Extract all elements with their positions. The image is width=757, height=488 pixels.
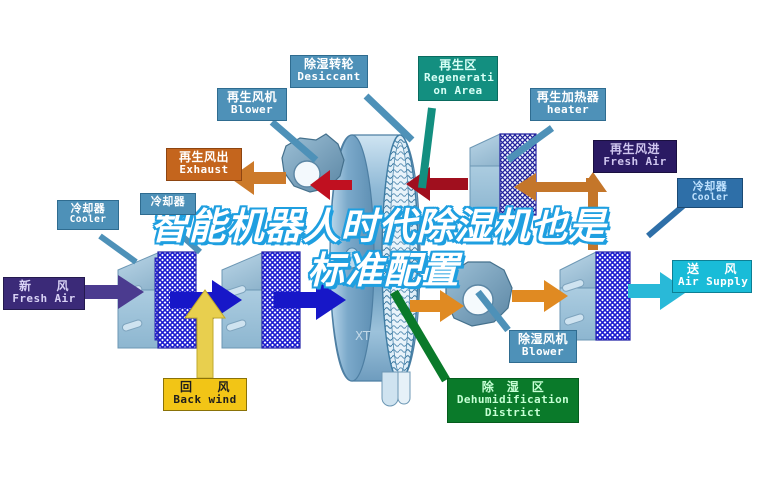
label-exhaust-en: Exhaust: [172, 164, 236, 176]
label-regeneration-blower-cn: 再生风机: [223, 91, 281, 104]
label-air-supply: 送 风 Air Supply: [672, 260, 752, 293]
label-fresh-air-in-en: Fresh Air: [9, 293, 79, 305]
label-exhaust: 再生风出 Exhaust: [166, 148, 242, 181]
label-dehumidification-district: 除 湿 区 Dehumidification District: [447, 378, 579, 423]
leader-regen-area: [422, 108, 432, 188]
label-regeneration-heater: 再生加热器 heater: [530, 88, 606, 121]
label-fresh-air-in-cn: 新 风: [9, 280, 79, 293]
label-back-wind: 回 风 Back wind: [163, 378, 247, 411]
label-dehumidification-blower-en: Blower: [515, 346, 571, 358]
label-back-wind-cn: 回 风: [169, 381, 241, 394]
label-regeneration-fresh-air-in-en: Fresh Air: [599, 156, 671, 168]
label-dehumidification-district-cn: 除 湿 区: [453, 381, 573, 394]
label-regeneration-fresh-air-in-cn: 再生风进: [599, 143, 671, 156]
label-dehumidification-district-en2: District: [453, 407, 573, 419]
desiccant-rotor: XT: [330, 135, 420, 406]
label-desiccant-wheel-en: Desiccant: [296, 71, 362, 83]
leader-cooler-left-1: [100, 236, 136, 262]
watermark: XT: [355, 329, 371, 343]
label-regeneration-fresh-air-in: 再生风进 Fresh Air: [593, 140, 677, 173]
label-air-supply-cn: 送 风: [678, 263, 746, 276]
label-exhaust-cn: 再生风出: [172, 151, 236, 164]
leader-cooler-left-2: [164, 220, 200, 252]
label-dehumidification-district-en: Dehumidification: [453, 394, 573, 406]
diagram-graphics: XT: [0, 0, 757, 488]
label-dehumidification-blower-cn: 除湿风机: [515, 333, 571, 346]
label-dehumidification-blower: 除湿风机 Blower: [509, 330, 577, 363]
label-cooler-left-1: 冷却器 Cooler: [57, 200, 119, 230]
label-fresh-air-in: 新 风 Fresh Air: [3, 277, 85, 310]
label-cooler-right-en: Cooler: [683, 193, 737, 204]
label-desiccant-wheel-cn: 除湿转轮: [296, 58, 362, 71]
label-cooler-right: 冷却器 Cooler: [677, 178, 743, 208]
label-regeneration-heater-en: heater: [536, 104, 600, 116]
label-desiccant-wheel: 除湿转轮 Desiccant: [290, 55, 368, 88]
label-regeneration-blower-en: Blower: [223, 104, 281, 116]
leader-desiccant: [366, 96, 412, 140]
label-cooler-left-2-cn: 冷却器: [146, 196, 190, 208]
label-regeneration-area: 再生区 Regenerati on Area: [418, 56, 498, 101]
label-regeneration-area-en2: on Area: [424, 85, 492, 97]
label-cooler-left-2: 冷却器: [140, 193, 196, 215]
label-regeneration-blower: 再生风机 Blower: [217, 88, 287, 121]
dehumidifier-diagram: XT: [0, 0, 757, 488]
label-back-wind-en: Back wind: [169, 394, 241, 406]
label-regeneration-heater-cn: 再生加热器: [536, 91, 600, 104]
label-regeneration-area-en: Regenerati: [424, 72, 492, 84]
label-cooler-left-1-en: Cooler: [63, 215, 113, 226]
label-regeneration-area-cn: 再生区: [424, 59, 492, 72]
label-air-supply-en: Air Supply: [678, 276, 746, 288]
